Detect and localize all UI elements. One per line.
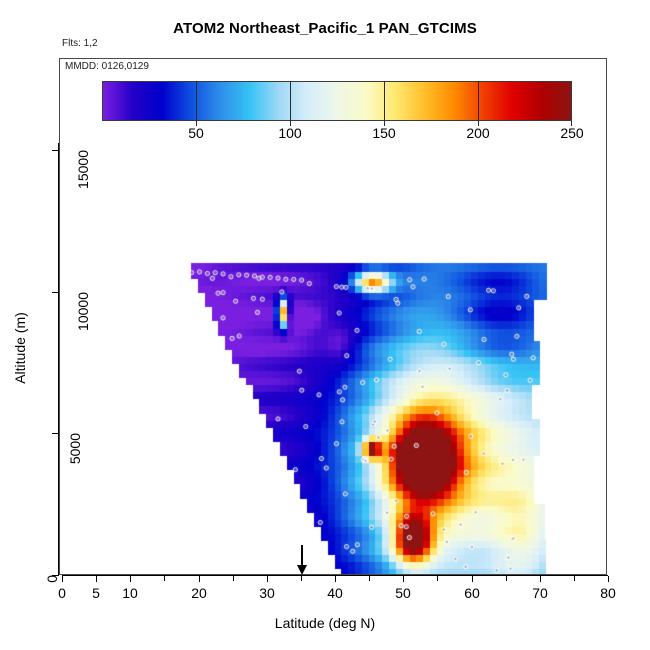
x-axis-tick (267, 576, 268, 582)
y-axis-tick (52, 150, 59, 151)
y-axis-title: Altitude (m) (12, 268, 28, 428)
x-axis-tick (62, 576, 63, 582)
flights-annotation: Flts: 1,2 (62, 38, 98, 49)
arrow-head (297, 565, 307, 575)
x-axis-tick-label: 60 (464, 585, 480, 601)
y-axis-tick-label: 0 (44, 575, 60, 583)
colorbar-divider (384, 81, 385, 121)
y-axis-tick-label: 15000 (75, 150, 91, 189)
x-axis-minor-tick (574, 576, 575, 581)
colorbar-divider (196, 81, 197, 121)
colorbar-gradient (102, 81, 572, 121)
x-axis-minor-tick (437, 576, 438, 581)
colorbar-tick-label: 100 (278, 125, 301, 141)
x-axis-tick (540, 576, 541, 582)
colorbar-tick-label: 250 (560, 125, 583, 141)
mmdd-annotation: MMDD: 0126,0129 (63, 60, 152, 73)
y-axis-tick-label: 5000 (67, 433, 83, 464)
x-axis-tick (335, 576, 336, 582)
x-axis-tick-label: 70 (532, 585, 548, 601)
x-axis-tick (608, 576, 609, 582)
colorbar-tick-label: 200 (466, 125, 489, 141)
y-axis-tick (52, 433, 59, 434)
x-axis-tick-label: 30 (259, 585, 275, 601)
colorbar-tick-label: 50 (188, 125, 204, 141)
x-axis-minor-tick (506, 576, 507, 581)
figure-canvas: ATOM2 Northeast_Pacific_1 PAN_GTCIMS Flt… (0, 0, 650, 650)
plot-frame (59, 58, 607, 575)
x-axis-tick (130, 576, 131, 582)
x-axis-minor-tick (233, 576, 234, 581)
colorbar: 50100150200250 (102, 81, 572, 121)
colorbar-divider (290, 81, 291, 121)
page-title: ATOM2 Northeast_Pacific_1 PAN_GTCIMS (0, 20, 650, 37)
colorbar-tick-label: 150 (372, 125, 395, 141)
arrow-shaft (301, 545, 303, 567)
x-axis-tick (96, 576, 97, 582)
x-axis-tick (403, 576, 404, 582)
y-axis-tick-label: 10000 (75, 292, 91, 331)
x-axis-tick-label: 5 (92, 585, 100, 601)
x-axis-tick-label: 40 (327, 585, 343, 601)
x-axis-minor-tick (301, 576, 302, 581)
x-axis-tick (199, 576, 200, 582)
x-axis-tick-label: 50 (395, 585, 411, 601)
x-axis-minor-tick (369, 576, 370, 581)
latitude-pointer-icon (296, 545, 307, 576)
x-axis-tick-label: 20 (191, 585, 207, 601)
x-axis-title: Latitude (deg N) (0, 615, 650, 631)
y-axis-line (58, 143, 59, 576)
x-axis-tick (472, 576, 473, 582)
heatmap-canvas (60, 59, 606, 574)
x-axis-tick-label: 10 (122, 585, 138, 601)
x-axis-minor-tick (164, 576, 165, 581)
colorbar-divider (478, 81, 479, 121)
x-axis-tick-label: 0 (58, 585, 66, 601)
x-axis-tick-label: 80 (600, 585, 616, 601)
y-axis-tick (52, 292, 59, 293)
